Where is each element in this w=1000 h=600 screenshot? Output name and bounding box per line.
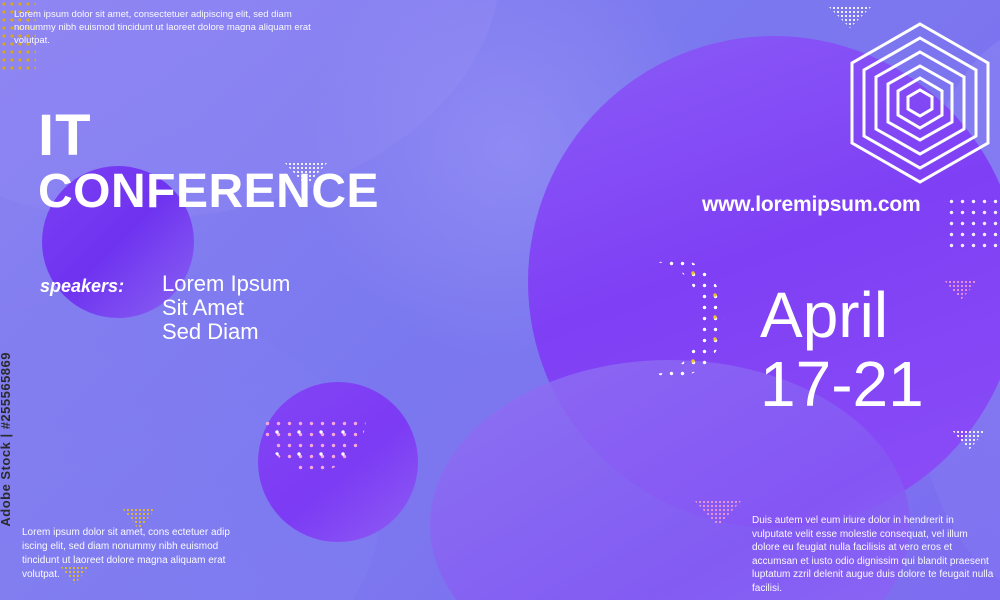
date-month: April	[760, 282, 924, 348]
poster-canvas: Lorem ipsum dolor sit amet, consectetuer…	[0, 0, 1000, 600]
crescent-dots-accent	[655, 258, 733, 378]
speakers-list: Lorem Ipsum Sit Amet Sed Diam	[162, 272, 290, 344]
dome-dots-accent	[262, 418, 366, 472]
speakers-section: speakers: Lorem Ipsum Sit Amet Sed Diam	[40, 272, 290, 344]
poster-title: IT CONFERENCE	[38, 108, 379, 218]
bottom-right-paragraph: Duis autem vel eum iriure dolor in hendr…	[752, 514, 996, 595]
website-url[interactable]: www.loremipsum.com	[702, 193, 921, 217]
intro-paragraph: Lorem ipsum dolor sit amet, consectetuer…	[14, 8, 324, 47]
bottom-left-paragraph: Lorem ipsum dolor sit amet, cons ectetue…	[22, 526, 258, 582]
hexagon-rings-icon	[840, 18, 1000, 188]
speaker-name: Sit Amet	[162, 296, 290, 320]
event-date: April 17-21	[760, 282, 924, 420]
right-edge-dot-grid	[946, 196, 1000, 250]
title-line-2: CONFERENCE	[38, 166, 379, 218]
speaker-name: Lorem Ipsum	[162, 272, 290, 296]
speaker-name: Sed Diam	[162, 320, 290, 344]
speakers-label: speakers:	[40, 272, 162, 297]
stock-watermark: Adobe Stock | #255565869	[0, 352, 13, 527]
date-days: 17-21	[760, 348, 924, 420]
title-line-1: IT	[38, 108, 379, 164]
